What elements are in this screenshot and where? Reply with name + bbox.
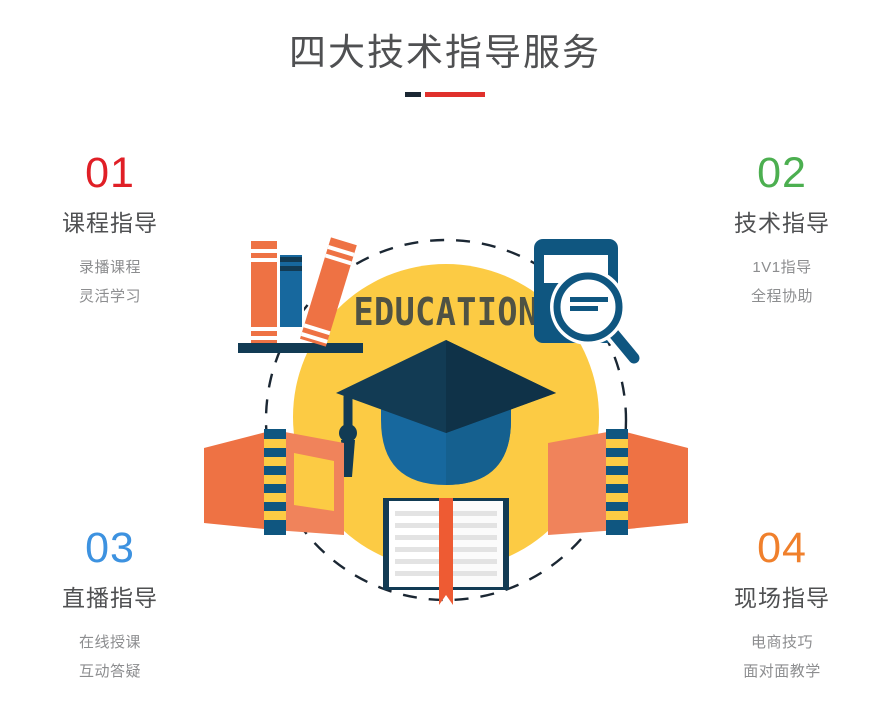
- header: 四大技术指导服务: [0, 0, 890, 97]
- open-book-left-icon: [204, 429, 344, 535]
- service-item-04[interactable]: 04 现场指导 电商技巧 面对面教学: [672, 527, 890, 686]
- service-subtitle-03-line2: 互动答疑: [0, 657, 220, 686]
- title-divider: [405, 92, 485, 97]
- service-subtitle-04-line2: 面对面教学: [672, 657, 890, 686]
- service-title-03: 直播指导: [0, 584, 220, 614]
- open-book-bottom-icon: [383, 498, 509, 605]
- divider-dark-segment: [405, 92, 421, 97]
- service-subtitle-01-line2: 灵活学习: [0, 282, 220, 311]
- page-title: 四大技术指导服务: [0, 0, 890, 76]
- service-item-01[interactable]: 01 课程指导 录播课程 灵活学习: [0, 152, 220, 311]
- service-item-03[interactable]: 03 直播指导 在线授课 互动答疑: [0, 527, 220, 686]
- open-book-right-icon: [548, 429, 688, 535]
- service-title-02: 技术指导: [672, 209, 890, 239]
- education-illustration: EDUCATION: [196, 205, 696, 625]
- service-subtitle-02-line2: 全程协助: [672, 282, 890, 311]
- service-number-02: 02: [672, 152, 890, 195]
- service-number-01: 01: [0, 152, 220, 195]
- service-number-03: 03: [0, 527, 220, 570]
- service-subtitle-01-line1: 录播课程: [0, 253, 220, 282]
- education-label: EDUCATION: [353, 291, 538, 335]
- divider-red-segment: [425, 92, 485, 97]
- service-subtitle-04-line1: 电商技巧: [672, 628, 890, 657]
- service-subtitle-03-line1: 在线授课: [0, 628, 220, 657]
- service-subtitle-02-line1: 1V1指导: [672, 253, 890, 282]
- service-title-04: 现场指导: [672, 584, 890, 614]
- service-item-02[interactable]: 02 技术指导 1V1指导 全程协助: [672, 152, 890, 311]
- service-title-01: 课程指导: [0, 209, 220, 239]
- service-number-04: 04: [672, 527, 890, 570]
